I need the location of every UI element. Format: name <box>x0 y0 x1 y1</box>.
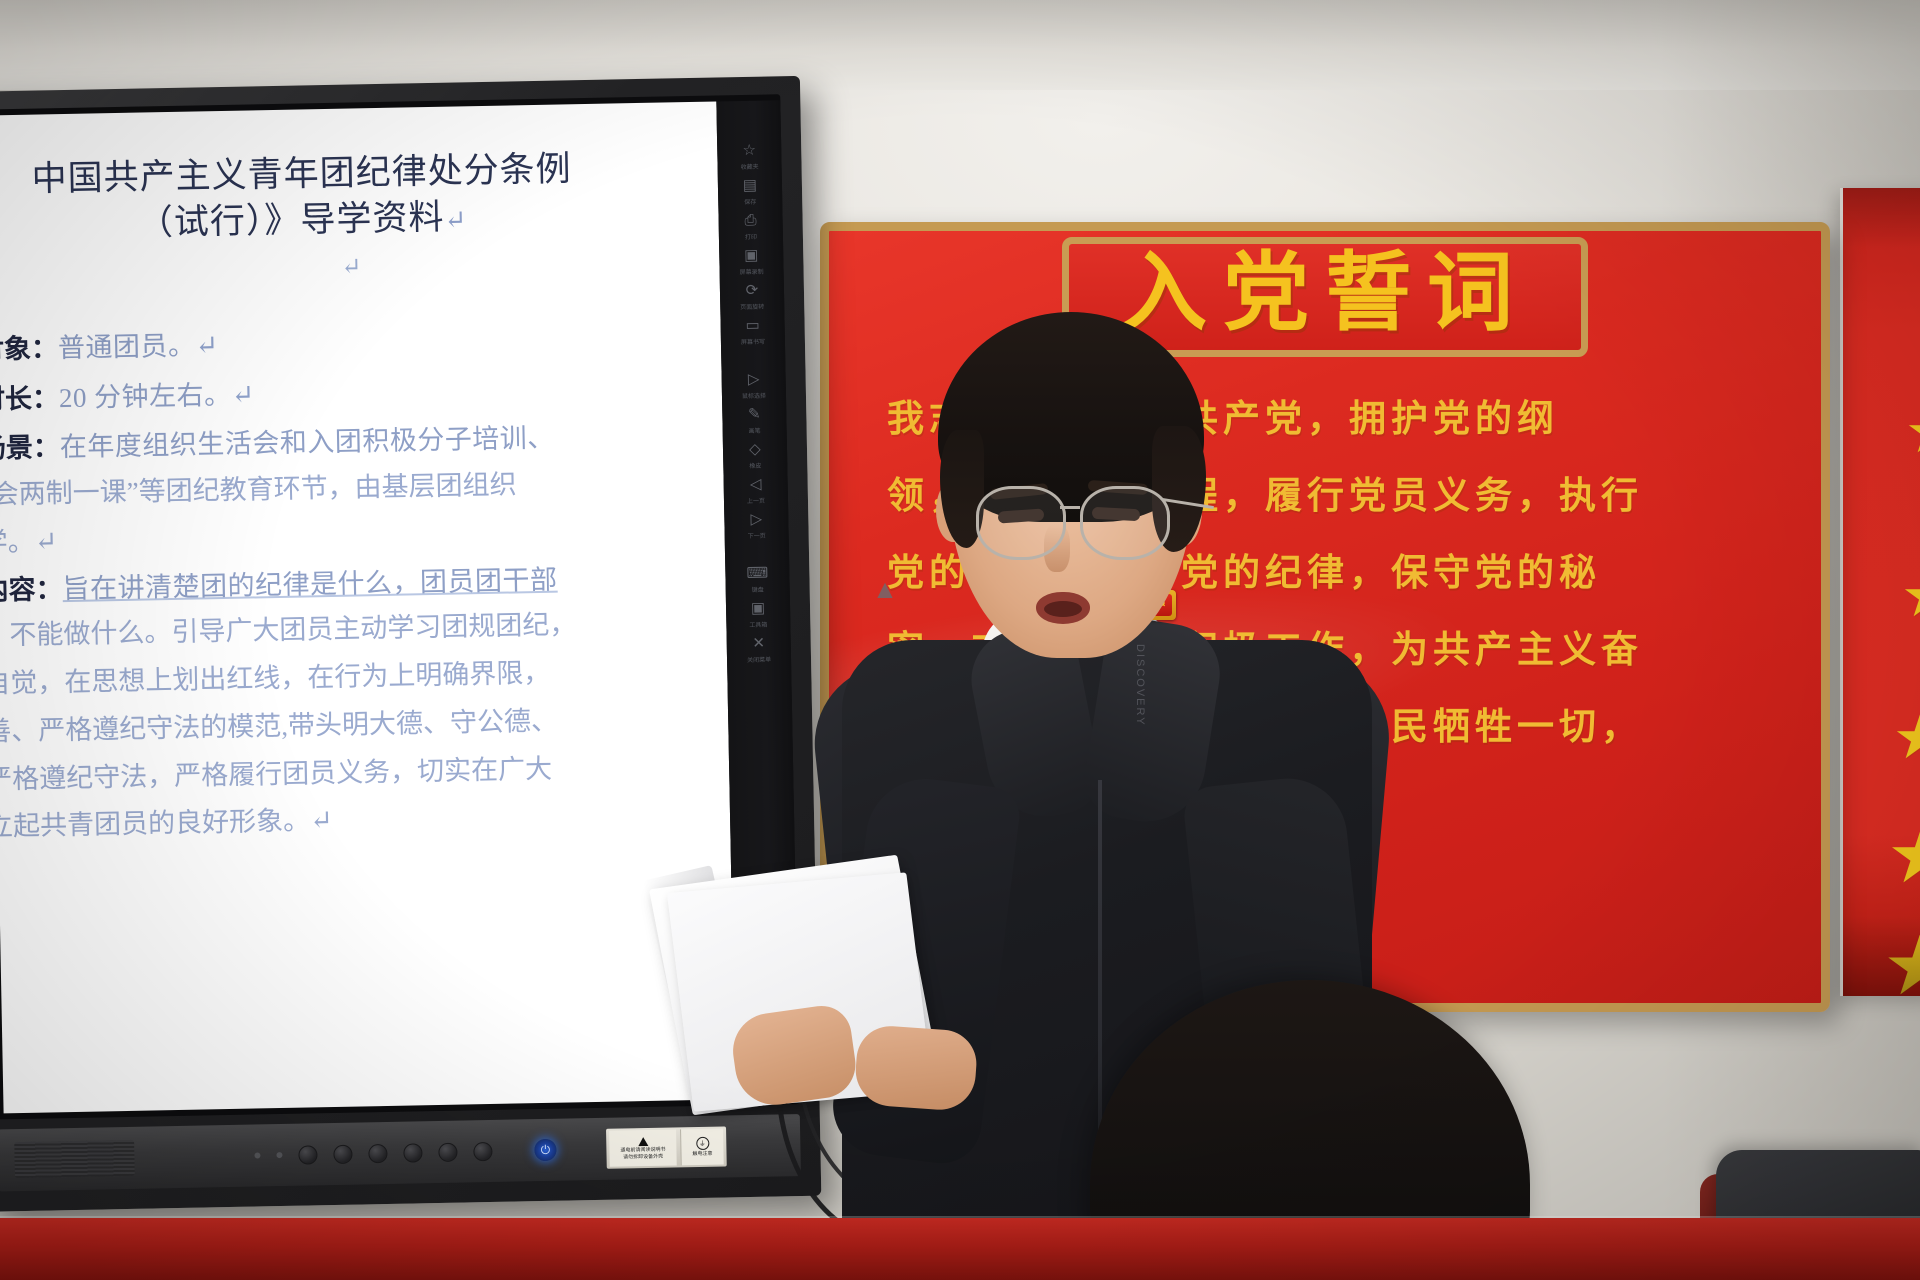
channel-button[interactable] <box>438 1142 457 1161</box>
toolbar-label-next-page: 下一页 <box>748 531 766 540</box>
doc-field-content-value: 旨在讲清楚团的纪律是什么，团员团干部 <box>62 564 557 603</box>
flag-panel-top-shadow <box>1843 188 1920 248</box>
left-lens <box>976 486 1066 560</box>
toolbar-label-close: 关闭菜单 <box>747 655 771 664</box>
doc-field-content-label: 主要内容： <box>0 574 63 607</box>
doc-scenario-wrap-1-text: 部“三会两制一课”等团纪教育环节，由基层团组织 <box>0 470 517 511</box>
toolbar-item-prev-page[interactable]: ◁ 上一页 <box>727 472 784 505</box>
toolbar-item-pen[interactable]: ✎ 画笔 <box>726 402 783 435</box>
menu-button[interactable] <box>298 1145 317 1164</box>
glasses-bridge <box>1060 506 1080 509</box>
doc-field-audience: 授课对象：普通团员。↵ <box>0 315 687 373</box>
pilcrow-duration: ↵ <box>231 379 255 409</box>
toolbar-item-rotate[interactable]: ⟳ 页面旋转 <box>724 278 781 311</box>
warning-label: 通电前请阅读说明书 请勿拆卸设备外壳 ⏚ 触电注意 <box>606 1126 727 1168</box>
next-page-icon: ▷ <box>745 508 767 530</box>
warning-label-text: 通电前请阅读说明书 请勿拆卸设备外壳 <box>609 1129 677 1166</box>
doc-title-text-1: 中国共产主义青年团纪律处分条例 <box>31 149 572 198</box>
toolbar-item-save[interactable]: ▤ 保存 <box>722 173 779 206</box>
toolbar-label-screenshot: 屏幕录制 <box>739 267 763 276</box>
hardware-button-row[interactable]: ⏻ 通电前请阅读说明书 请勿拆卸设备外壳 ⏚ 触电注意 <box>254 1126 727 1175</box>
doc-field-audience-value: 普通团员。 <box>58 331 196 364</box>
toolbar-label-screen: 屏幕书写 <box>741 337 765 346</box>
smartboard-screen[interactable]: 中国共产主义青年团纪律处分条例 （试行）》导学资料↵ ↵ 授课对象：普通团员。↵… <box>0 101 735 1113</box>
toolbar-label-save: 保存 <box>744 197 756 206</box>
toolbar-item-eraser[interactable]: ◇ 橡皮 <box>727 437 784 470</box>
toolbar-label-eraser: 橡皮 <box>749 461 761 470</box>
toolbar-item-next-page[interactable]: ▷ 下一页 <box>728 507 785 540</box>
speaker-grill <box>14 1140 135 1178</box>
volume-down-button[interactable] <box>368 1143 387 1162</box>
close-icon: ✕ <box>748 632 770 654</box>
toolbar-item-screenshot[interactable]: ▣ 屏幕录制 <box>723 243 780 276</box>
prev-page-icon: ◁ <box>744 473 766 495</box>
flag-star-1: ★ <box>1905 402 1920 462</box>
flag-panel-bottom-shadow <box>1843 916 1920 996</box>
eraser-icon: ◇ <box>744 438 766 460</box>
wall-top-shadow <box>0 0 1920 90</box>
doc-field-duration: 学习时长：20 分钟左右。↵ <box>0 365 688 423</box>
volume-up-button[interactable] <box>403 1143 422 1162</box>
toolbar-item-screen[interactable]: ▭ 屏幕书写 <box>724 313 781 346</box>
rotate-icon: ⟳ <box>741 279 763 301</box>
toolbar-label-cursor: 鼠标选择 <box>742 391 766 400</box>
doc-field-duration-label: 学习时长： <box>0 383 59 416</box>
screen-icon: ▭ <box>741 314 763 336</box>
doc-field-scenario-value: 在年度组织生活会和入团积极分子培训、 <box>60 423 555 462</box>
doc-field-audience-label: 授课对象： <box>0 333 58 366</box>
power-button[interactable]: ⏻ <box>534 1139 556 1161</box>
red-baseboard <box>0 1218 1920 1280</box>
chinese-flag-stars-panel: ★ ★ ★ ★ ★ <box>1840 188 1920 996</box>
ground-icon: ⏚ <box>696 1137 709 1150</box>
cursor-icon: ▷ <box>742 368 764 390</box>
status-led-2 <box>276 1152 282 1158</box>
toolbar-label-pen: 画笔 <box>749 426 761 435</box>
mouth-interior <box>1044 601 1082 617</box>
doc-title-text-2: （试行）》导学资料 <box>138 197 445 242</box>
star-icon: ☆ <box>738 139 760 161</box>
toolbar-label-rotate: 页面旋转 <box>740 302 764 311</box>
toolbar-item-close[interactable]: ✕ 关闭菜单 <box>731 631 788 664</box>
source-button[interactable] <box>333 1144 352 1163</box>
doc-field-scenario-label: 适用场景： <box>0 433 60 466</box>
toolbar-label-keyboard: 键盘 <box>752 585 764 594</box>
pen-icon: ✎ <box>743 403 765 425</box>
toolbar-item-toolbox[interactable]: ▣ 工具箱 <box>730 596 787 629</box>
toolbar-item-star[interactable]: ☆ 收藏夹 <box>721 138 778 171</box>
toolbar-item-print[interactable]: ⎙ 打印 <box>722 208 779 241</box>
doc-content-wrap-5: 中树立起共青团员的良好形象。↵ <box>0 792 696 850</box>
status-led-1 <box>254 1152 260 1158</box>
smartboard-control-bar[interactable]: ⏻ 通电前请阅读说明书 请勿拆卸设备外壳 ⏚ 触电注意 <box>0 1114 801 1191</box>
warning-triangle-icon <box>638 1136 648 1145</box>
document-body: 授课对象：普通团员。↵ 学习时长：20 分钟左右。↵ 适用场景：在年度组织生活会… <box>19 315 697 849</box>
doc-field-duration-value: 20 分钟左右。 <box>59 380 232 413</box>
toolbar-label-toolbox: 工具箱 <box>749 620 767 629</box>
home-button[interactable] <box>473 1141 492 1160</box>
word-document: 中国共产主义青年团纪律处分条例 （试行）》导学资料↵ ↵ 授课对象：普通团员。↵… <box>0 101 735 1113</box>
eyeglasses <box>976 486 1180 558</box>
keyboard-icon: ⌨ <box>746 562 768 584</box>
warning-note: 请勿拆卸设备外壳 <box>623 1152 663 1160</box>
toolbox-icon: ▣ <box>747 597 769 619</box>
right-lens <box>1080 486 1170 560</box>
flag-star-3: ★ <box>1893 708 1920 768</box>
jacket-chest-logo: ▲ <box>868 572 902 606</box>
save-icon: ▤ <box>739 174 761 196</box>
toolbar-item-keyboard[interactable]: ⌨ 键盘 <box>729 561 786 594</box>
ground-label: 触电注意 <box>692 1150 712 1157</box>
toolbar-label-star: 收藏夹 <box>740 162 758 171</box>
screenshot-icon: ▣ <box>740 244 762 266</box>
pilcrow-audience: ↵ <box>195 330 219 360</box>
toolbar-label-prev-page: 上一页 <box>747 496 765 505</box>
flag-star-4: ★ <box>1887 816 1920 894</box>
jacket-sleeve-brand: DISCOVERY <box>1134 644 1146 727</box>
print-icon: ⎙ <box>739 209 761 231</box>
toolbar-label-print: 打印 <box>745 232 757 241</box>
pilcrow-title: ↵ <box>444 205 467 234</box>
flag-star-2: ★ <box>1901 566 1920 626</box>
classroom-scene: ★ ★ ★ ★ ★ 我志愿加入中国共产党，拥护党的纲 领，遵守党的章程，履行党员… <box>0 0 1920 1280</box>
ground-warning: ⏚ 触电注意 <box>680 1129 724 1166</box>
toolbar-item-cursor[interactable]: ▷ 鼠标选择 <box>725 367 782 400</box>
mouth <box>1036 592 1090 624</box>
right-hand <box>853 1024 978 1112</box>
